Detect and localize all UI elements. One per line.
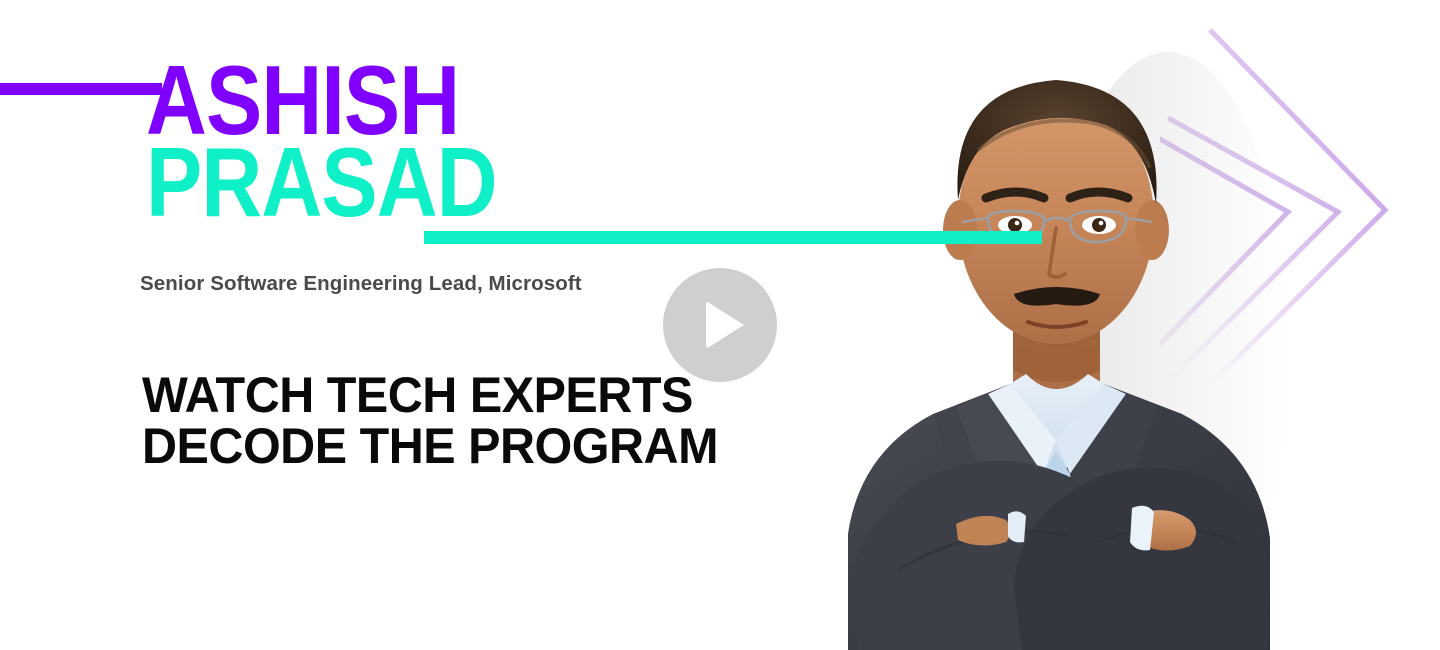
speaker-role: Senior Software Engineering Lead, Micros… [140,272,582,296]
chevron-right-icon-3 [1160,118,1288,382]
chevron-group-icon [1160,0,1440,400]
speaker-portrait-image [838,22,1328,650]
speaker-banner: ASHISH PRASAD Senior Software Engineerin… [0,0,1440,650]
speaker-name: ASHISH PRASAD [146,62,554,221]
play-triangle-icon [706,301,744,349]
headline-line-1: WATCH TECH EXPERTS [142,370,718,421]
headline: WATCH TECH EXPERTS DECODE THE PROGRAM [142,370,718,472]
teal-accent-rule [424,231,1042,244]
purple-accent-rule [0,83,162,95]
headline-line-2: DECODE THE PROGRAM [142,421,718,472]
speaker-portrait [838,22,1328,650]
chevron-decoration [1160,0,1440,400]
play-video-button[interactable] [663,268,777,382]
chevron-right-icon-1 [1210,30,1385,385]
chevron-right-icon-2 [1168,118,1338,382]
speaker-last-name: PRASAD [146,144,497,220]
